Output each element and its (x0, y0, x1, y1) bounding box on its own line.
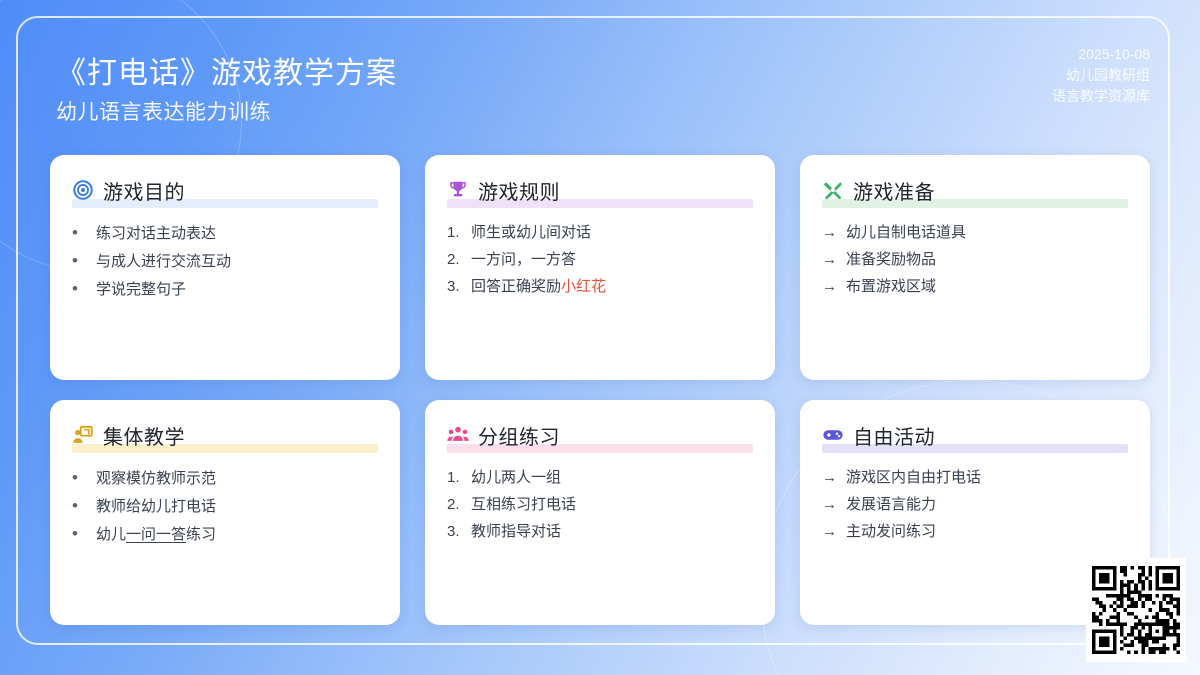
list-item-marker: → (822, 518, 838, 545)
list-item: →布置游戏区域 (822, 273, 1128, 300)
list-item-text: 回答正确奖励小红花 (471, 273, 606, 300)
list-item-text: 布置游戏区域 (846, 273, 936, 300)
header-meta: 2025-10-08 幼儿园教研组 语言教学资源库 (1052, 44, 1150, 107)
card-game-rules: 游戏规则1.师生或幼儿间对话2.一方问，一方答3.回答正确奖励小红花 (425, 155, 775, 380)
list-item-marker: 3. (447, 518, 463, 545)
card-title: 游戏准备 (853, 176, 935, 205)
list-item: →游戏区内自由打电话 (822, 464, 1128, 491)
list-item-text: 互相练习打电话 (471, 491, 576, 518)
target-icon (72, 179, 94, 201)
list-item-text: 游戏区内自由打电话 (846, 464, 981, 491)
list-item-marker: → (822, 219, 838, 246)
list-item-text: 一方问，一方答 (471, 246, 576, 273)
list-item-text-plain: 回答正确奖励 (471, 278, 561, 295)
list-item-text: 学说完整句子 (96, 276, 186, 303)
list-item: 3.回答正确奖励小红花 (447, 273, 753, 300)
page-subtitle: 幼儿语言表达能力训练 (56, 96, 271, 126)
card-item-list: 1.师生或幼儿间对话2.一方问，一方答3.回答正确奖励小红花 (447, 219, 753, 300)
list-item-text: 师生或幼儿间对话 (471, 219, 591, 246)
card-group-teaching: 集体教学•观察模仿教师示范•教师给幼儿打电话•幼儿一问一答练习 (50, 400, 400, 625)
list-item-marker: • (72, 492, 88, 519)
list-item: 1.师生或幼儿间对话 (447, 219, 753, 246)
card-title: 自由活动 (853, 421, 935, 450)
list-item: •学说完整句子 (72, 275, 378, 303)
card-item-list: →幼儿自制电话道具→准备奖励物品→布置游戏区域 (822, 219, 1128, 300)
list-item-marker: • (72, 464, 88, 491)
list-item: •教师给幼儿打电话 (72, 492, 378, 520)
trophy-icon (447, 179, 469, 201)
list-item-text: 发展语言能力 (846, 491, 936, 518)
page-title: 《打电话》游戏教学方案 (56, 48, 397, 92)
list-item: →主动发问练习 (822, 518, 1128, 545)
list-item: 2.一方问，一方答 (447, 246, 753, 273)
list-item: •与成人进行交流互动 (72, 247, 378, 275)
list-item-text: 幼儿一问一答练习 (96, 521, 216, 548)
list-item: •幼儿一问一答练习 (72, 520, 378, 548)
slide-root: 《打电话》游戏教学方案 幼儿语言表达能力训练 2025-10-08 幼儿园教研组… (0, 0, 1200, 675)
list-item: →幼儿自制电话道具 (822, 219, 1128, 246)
list-item-marker: 3. (447, 273, 463, 300)
card-header: 分组练习 (447, 420, 753, 450)
card-header: 游戏目的 (72, 175, 378, 205)
list-item: •练习对话主动表达 (72, 219, 378, 247)
list-item-marker: • (72, 247, 88, 274)
qr-code[interactable] (1086, 558, 1186, 662)
list-item: 3.教师指导对话 (447, 518, 753, 545)
list-item-text: 准备奖励物品 (846, 246, 936, 273)
list-item-text-prefix: 幼儿 (96, 526, 126, 543)
list-item: →发展语言能力 (822, 491, 1128, 518)
card-header: 游戏准备 (822, 175, 1128, 205)
list-item-text: 幼儿两人一组 (471, 464, 561, 491)
card-item-list: •观察模仿教师示范•教师给幼儿打电话•幼儿一问一答练习 (72, 464, 378, 548)
list-item-text: 练习对话主动表达 (96, 220, 216, 247)
list-item-marker: 2. (447, 491, 463, 518)
list-item-text-suffix: 练习 (186, 526, 216, 543)
meta-org: 幼儿园教研组 (1052, 65, 1150, 86)
card-game-preparation: 游戏准备→幼儿自制电话道具→准备奖励物品→布置游戏区域 (800, 155, 1150, 380)
card-title: 游戏目的 (103, 176, 185, 205)
list-item: 2.互相练习打电话 (447, 491, 753, 518)
list-item-marker: → (822, 273, 838, 300)
card-header: 自由活动 (822, 420, 1128, 450)
list-item-text: 与成人进行交流互动 (96, 248, 231, 275)
qr-code-image (1092, 564, 1180, 656)
card-header: 游戏规则 (447, 175, 753, 205)
card-item-list: →游戏区内自由打电话→发展语言能力→主动发问练习 (822, 464, 1128, 545)
list-item-marker: • (72, 275, 88, 302)
list-item-marker: → (822, 246, 838, 273)
card-grid: 游戏目的•练习对话主动表达•与成人进行交流互动•学说完整句子游戏规则1.师生或幼… (50, 155, 1150, 625)
list-item-marker: → (822, 464, 838, 491)
card-header: 集体教学 (72, 420, 378, 450)
card-item-list: 1.幼儿两人一组2.互相练习打电话3.教师指导对话 (447, 464, 753, 545)
card-paired-practice: 分组练习1.幼儿两人一组2.互相练习打电话3.教师指导对话 (425, 400, 775, 625)
list-item-marker: 1. (447, 464, 463, 491)
list-item-marker: • (72, 219, 88, 246)
list-item-marker: → (822, 491, 838, 518)
meta-date: 2025-10-08 (1052, 44, 1150, 65)
slide-header: 《打电话》游戏教学方案 幼儿语言表达能力训练 2025-10-08 幼儿园教研组… (0, 0, 1200, 145)
list-item: →准备奖励物品 (822, 246, 1128, 273)
card-game-purpose: 游戏目的•练习对话主动表达•与成人进行交流互动•学说完整句子 (50, 155, 400, 380)
list-item-text: 幼儿自制电话道具 (846, 219, 966, 246)
list-item-marker: 2. (447, 246, 463, 273)
list-item-highlight: 小红花 (561, 278, 606, 295)
gamepad-icon (822, 424, 844, 446)
teacher-presentation-icon (72, 424, 94, 446)
list-item-text: 观察模仿教师示范 (96, 465, 216, 492)
list-item-highlight: 一问一答 (126, 526, 186, 543)
list-item-marker: 1. (447, 219, 463, 246)
meta-library: 语言教学资源库 (1052, 86, 1150, 107)
card-title: 游戏规则 (478, 176, 560, 205)
list-item: •观察模仿教师示范 (72, 464, 378, 492)
card-title: 分组练习 (478, 421, 560, 450)
list-item-text: 教师指导对话 (471, 518, 561, 545)
tools-icon (822, 179, 844, 201)
list-item-text: 主动发问练习 (846, 518, 936, 545)
people-group-icon (447, 424, 469, 446)
card-item-list: •练习对话主动表达•与成人进行交流互动•学说完整句子 (72, 219, 378, 303)
list-item-text: 教师给幼儿打电话 (96, 493, 216, 520)
list-item-marker: • (72, 520, 88, 547)
card-title: 集体教学 (103, 421, 185, 450)
list-item: 1.幼儿两人一组 (447, 464, 753, 491)
